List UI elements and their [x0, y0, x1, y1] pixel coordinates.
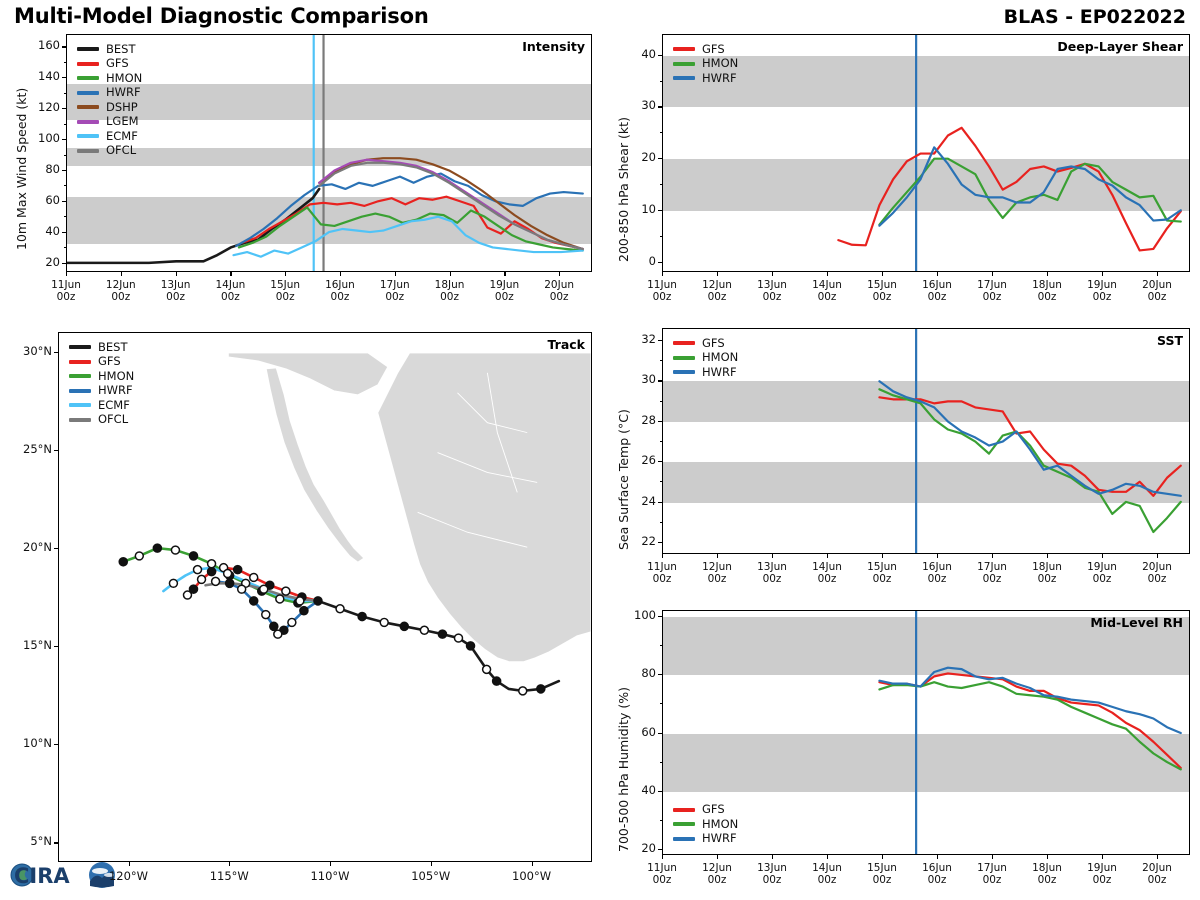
x-tick-day: 13Jun: [757, 561, 787, 573]
x-tick-day: 17Jun: [977, 862, 1007, 874]
y-tick-label: 20: [618, 150, 656, 164]
x-tick-mark: [176, 272, 177, 276]
track-marker-00z: [189, 552, 198, 561]
legend-swatch-ofcl: [77, 149, 99, 153]
y-minor-tick: [660, 481, 663, 482]
x-tick-mark: [882, 554, 883, 558]
x-tick-hour: 00z: [818, 874, 837, 886]
y-tick-label: 80: [22, 162, 60, 176]
track-marker-00z: [400, 622, 409, 631]
y-minor-tick: [64, 124, 67, 125]
x-tick-label: 11Jun00z: [636, 862, 688, 886]
x-tick-day: 12Jun: [702, 279, 732, 291]
x-tick-label: 19Jun00z: [1076, 279, 1128, 303]
x-tick-day: 14Jun: [812, 561, 842, 573]
track-y-tick-mark: [54, 646, 58, 647]
x-tick-day: 11Jun: [51, 279, 81, 291]
legend-entry-hwrf: HWRF: [673, 365, 738, 380]
x-tick-hour: 00z: [1038, 291, 1057, 303]
x-tick-mark: [450, 272, 451, 276]
x-tick-label: 12Jun00z: [691, 561, 743, 585]
track-marker-12z: [183, 591, 191, 599]
legend-label-ofcl: OFCL: [98, 414, 128, 426]
x-tick-hour: 00z: [1038, 573, 1057, 585]
x-tick-day: 20Jun: [544, 279, 574, 291]
x-tick-mark: [937, 272, 938, 276]
x-tick-hour: 00z: [166, 291, 185, 303]
legend-label-hmon: HMON: [106, 73, 142, 85]
x-tick-day: 13Jun: [757, 279, 787, 291]
x-tick-day: 18Jun: [1032, 862, 1062, 874]
track-marker-00z: [300, 606, 309, 615]
legend-entry-gfs: GFS: [673, 803, 738, 818]
legend-swatch-best: [77, 47, 99, 51]
x-tick-day: 14Jun: [215, 279, 245, 291]
x-tick-hour: 00z: [221, 291, 240, 303]
landmass: [378, 353, 591, 662]
legend-swatch-hwrf: [77, 91, 99, 95]
x-tick-label: 13Jun00z: [150, 279, 202, 303]
y-minor-tick: [64, 232, 67, 233]
track-x-tick-mark: [330, 862, 331, 866]
legend-entry-hwrf: HWRF: [673, 71, 738, 86]
track-y-tick-label: 5°N: [6, 834, 52, 848]
x-tick-hour: 00z: [928, 573, 947, 585]
track-x-tick-label: 105°W: [401, 870, 461, 883]
x-tick-hour: 00z: [111, 291, 130, 303]
x-tick-mark: [1102, 272, 1103, 276]
y-minor-tick: [660, 820, 663, 821]
y-minor-tick: [660, 262, 663, 263]
y-minor-tick: [660, 210, 663, 211]
x-tick-hour: 00z: [873, 291, 892, 303]
sst-panel-title: SST: [1157, 333, 1183, 348]
x-tick-label: 19Jun00z: [1076, 561, 1128, 585]
legend-label-dshp: DSHP: [106, 102, 138, 114]
y-minor-tick: [660, 849, 663, 850]
y-tick-label: 40: [618, 47, 656, 61]
legend-entry-gfs: GFS: [77, 57, 142, 72]
y-tick-label: 20: [22, 255, 60, 269]
x-tick-hour: 00z: [708, 291, 727, 303]
track-marker-12z: [274, 630, 282, 638]
x-tick-mark: [992, 272, 993, 276]
shear-y-axis-label: 200-850 hPa Shear (kt): [616, 117, 631, 262]
x-tick-mark: [66, 272, 67, 276]
y-minor-tick: [64, 46, 67, 47]
track-marker-12z: [224, 570, 232, 578]
y-tick-label: 20: [618, 841, 656, 855]
legend-label-hmon: HMON: [702, 819, 738, 831]
legend-label-ecmf: ECMF: [106, 131, 138, 143]
legend-label-hmon: HMON: [98, 371, 134, 383]
y-tick-label: 60: [618, 725, 656, 739]
shear-series-svg: [663, 35, 1189, 272]
legend-swatch-hmon: [673, 356, 695, 360]
series-line-hwrf: [879, 147, 1180, 225]
series-line-hmon: [239, 207, 583, 250]
legend-swatch-gfs: [69, 360, 91, 364]
legend-entry-gfs: GFS: [673, 42, 738, 57]
legend-swatch-lgem: [77, 120, 99, 124]
x-tick-mark: [937, 554, 938, 558]
x-tick-day: 20Jun: [1142, 862, 1172, 874]
x-tick-hour: 00z: [440, 291, 459, 303]
x-tick-mark: [662, 554, 663, 558]
track-x-tick-label: 120°W: [99, 870, 159, 883]
series-line-ofcl: [319, 163, 583, 249]
track-panel-title: Track: [548, 337, 585, 352]
x-tick-hour: 00z: [928, 874, 947, 886]
y-minor-tick: [660, 184, 663, 185]
y-minor-tick: [660, 542, 663, 543]
track-y-tick-label: 15°N: [6, 638, 52, 652]
y-minor-tick: [660, 401, 663, 402]
x-tick-hour: 00z: [1148, 874, 1167, 886]
y-tick-label: 40: [22, 224, 60, 238]
x-tick-mark: [1157, 272, 1158, 276]
y-minor-tick: [660, 703, 663, 704]
legend-entry-hmon: HMON: [673, 57, 738, 72]
x-tick-hour: 00z: [873, 874, 892, 886]
x-tick-mark: [285, 272, 286, 276]
y-tick-label: 32: [618, 332, 656, 346]
diagnostic-dashboard: Multi-Model Diagnostic Comparison BLAS -…: [0, 0, 1200, 900]
rh-plot-area[interactable]: Mid-Level RH GFSHMONHWRF: [662, 610, 1190, 855]
track-marker-12z: [336, 605, 344, 613]
legend-label-gfs: GFS: [702, 44, 725, 56]
landmass: [228, 353, 387, 395]
y-minor-tick: [64, 201, 67, 202]
track-y-tick-mark: [54, 842, 58, 843]
panel-rh: 700-500 hPa Humidity (%) Mid-Level RH GF…: [600, 600, 1200, 900]
y-tick-label: 26: [618, 453, 656, 467]
x-tick-label: 18Jun00z: [1021, 862, 1073, 886]
x-tick-label: 11Jun00z: [636, 279, 688, 303]
y-minor-tick: [660, 340, 663, 341]
x-tick-mark: [662, 855, 663, 859]
y-minor-tick: [64, 216, 67, 217]
x-tick-label: 20Jun00z: [533, 279, 585, 303]
x-tick-mark: [1157, 855, 1158, 859]
x-tick-mark: [882, 855, 883, 859]
x-tick-mark: [772, 554, 773, 558]
x-tick-hour: 00z: [276, 291, 295, 303]
x-tick-day: 18Jun: [1032, 561, 1062, 573]
x-tick-hour: 00z: [653, 291, 672, 303]
track-marker-12z: [238, 585, 246, 593]
x-tick-hour: 00z: [708, 573, 727, 585]
y-minor-tick: [660, 81, 663, 82]
track-x-tick-label: 100°W: [502, 870, 562, 883]
x-tick-label: 16Jun00z: [314, 279, 366, 303]
x-tick-mark: [827, 855, 828, 859]
x-tick-label: 20Jun00z: [1131, 561, 1183, 585]
x-tick-hour: 00z: [873, 573, 892, 585]
legend-label-hwrf: HWRF: [702, 367, 737, 379]
x-tick-day: 12Jun: [702, 561, 732, 573]
series-line-hwrf: [879, 381, 1180, 496]
legend-entry-dshp: DSHP: [77, 100, 142, 115]
x-tick-hour: 00z: [763, 291, 782, 303]
x-tick-hour: 00z: [331, 291, 350, 303]
x-tick-day: 15Jun: [867, 279, 897, 291]
track-x-tick-mark: [532, 862, 533, 866]
x-tick-day: 20Jun: [1142, 279, 1172, 291]
track-marker-12z: [262, 611, 270, 619]
intensity-legend: BESTGFSHMONHWRFDSHPLGEMECMFOFCL: [77, 42, 142, 158]
x-tick-day: 11Jun: [647, 561, 677, 573]
y-tick-label: 140: [22, 69, 60, 83]
track-marker-12z: [282, 587, 290, 595]
sst-legend: GFSHMONHWRF: [673, 336, 738, 380]
x-tick-day: 12Jun: [106, 279, 136, 291]
legend-swatch-hwrf: [673, 76, 695, 80]
x-tick-label: 11Jun00z: [636, 561, 688, 585]
y-minor-tick: [660, 132, 663, 133]
svg-text:CIRA: CIRA: [14, 864, 70, 888]
y-tick-label: 10: [618, 202, 656, 216]
x-tick-label: 20Jun00z: [1131, 279, 1183, 303]
x-tick-label: 19Jun00z: [478, 279, 530, 303]
track-legend: BESTGFSHMONHWRFECMFOFCL: [69, 340, 134, 427]
track-marker-00z: [207, 567, 216, 576]
legend-entry-best: BEST: [77, 42, 142, 57]
series-line-hwrf: [236, 174, 583, 246]
legend-entry-lgem: LGEM: [77, 115, 142, 130]
x-tick-mark: [827, 554, 828, 558]
x-tick-label: 16Jun00z: [911, 561, 963, 585]
track-marker-12z: [276, 595, 284, 603]
track-marker-12z: [194, 566, 202, 574]
x-tick-hour: 00z: [653, 573, 672, 585]
track-marker-00z: [314, 597, 323, 606]
y-tick-label: 30: [618, 372, 656, 386]
track-marker-00z: [270, 622, 279, 631]
intensity-series-svg: [67, 35, 591, 272]
y-minor-tick: [660, 762, 663, 763]
track-y-tick-label: 30°N: [6, 344, 52, 358]
legend-swatch-hmon: [69, 374, 91, 378]
y-minor-tick: [660, 733, 663, 734]
x-tick-mark: [717, 855, 718, 859]
y-tick-label: 160: [22, 38, 60, 52]
x-tick-mark: [827, 272, 828, 276]
x-tick-hour: 00z: [818, 573, 837, 585]
x-tick-mark: [772, 855, 773, 859]
track-marker-12z: [296, 597, 304, 605]
sst-series-svg: [663, 329, 1189, 554]
x-tick-mark: [992, 855, 993, 859]
x-tick-hour: 00z: [57, 291, 76, 303]
track-marker-12z: [198, 575, 206, 583]
track-y-tick-mark: [54, 744, 58, 745]
track-marker-12z: [483, 665, 491, 673]
x-tick-mark: [937, 855, 938, 859]
x-tick-label: 17Jun00z: [966, 561, 1018, 585]
shear-panel-title: Deep-Layer Shear: [1057, 39, 1183, 54]
track-x-tick-mark: [229, 862, 230, 866]
x-tick-mark: [1047, 272, 1048, 276]
shear-plot-area[interactable]: Deep-Layer Shear GFSHMONHWRF: [662, 34, 1190, 272]
track-marker-00z: [225, 579, 234, 588]
x-tick-label: 15Jun00z: [259, 279, 311, 303]
x-tick-hour: 00z: [1093, 291, 1112, 303]
legend-entry-hwrf: HWRF: [673, 832, 738, 847]
series-line-hmon: [879, 389, 1180, 532]
legend-entry-gfs: GFS: [673, 336, 738, 351]
x-tick-mark: [504, 272, 505, 276]
legend-swatch-hwrf: [673, 370, 695, 374]
track-map-svg: [59, 333, 591, 861]
sst-plot-area[interactable]: SST GFSHMONHWRF: [662, 328, 1190, 554]
track-marker-12z: [250, 573, 258, 581]
legend-swatch-hmon: [673, 822, 695, 826]
x-tick-mark: [882, 272, 883, 276]
rh-panel-title: Mid-Level RH: [1090, 615, 1183, 630]
x-tick-day: 19Jun: [1087, 279, 1117, 291]
x-tick-hour: 00z: [1038, 874, 1057, 886]
y-minor-tick: [660, 158, 663, 159]
track-x-tick-mark: [129, 862, 130, 866]
y-minor-tick: [660, 441, 663, 442]
y-tick-label: 24: [618, 494, 656, 508]
track-marker-00z: [153, 544, 162, 553]
track-marker-00z: [119, 558, 128, 567]
x-tick-label: 14Jun00z: [801, 561, 853, 585]
track-marker-00z: [233, 565, 242, 574]
track-marker-12z: [212, 577, 220, 585]
intensity-plot-area[interactable]: Intensity BESTGFSHMONHWRFDSHPLGEMECMFOFC…: [66, 34, 592, 272]
x-tick-day: 11Jun: [647, 862, 677, 874]
legend-label-hwrf: HWRF: [702, 73, 737, 85]
x-tick-mark: [1047, 554, 1048, 558]
track-y-tick-mark: [54, 548, 58, 549]
x-tick-hour: 00z: [928, 291, 947, 303]
legend-swatch-gfs: [673, 808, 695, 812]
x-tick-hour: 00z: [983, 291, 1002, 303]
y-minor-tick: [660, 380, 663, 381]
legend-swatch-hwrf: [69, 389, 91, 393]
x-tick-mark: [230, 272, 231, 276]
x-tick-label: 17Jun00z: [369, 279, 421, 303]
track-y-tick-mark: [54, 352, 58, 353]
y-minor-tick: [64, 108, 67, 109]
x-tick-day: 14Jun: [812, 862, 842, 874]
x-tick-mark: [1157, 554, 1158, 558]
panel-intensity: 10m Max Wind Speed (kt) Intensity BESTGF…: [0, 0, 600, 318]
legend-label-gfs: GFS: [106, 58, 129, 70]
x-tick-mark: [772, 272, 773, 276]
legend-entry-hmon: HMON: [77, 71, 142, 86]
track-marker-12z: [171, 546, 179, 554]
x-tick-hour: 00z: [983, 573, 1002, 585]
x-tick-hour: 00z: [708, 874, 727, 886]
track-marker-00z: [537, 685, 546, 694]
track-marker-00z: [492, 677, 501, 686]
x-tick-day: 20Jun: [1142, 561, 1172, 573]
x-tick-mark: [662, 272, 663, 276]
x-tick-label: 20Jun00z: [1131, 862, 1183, 886]
y-minor-tick: [660, 106, 663, 107]
x-tick-day: 16Jun: [922, 279, 952, 291]
legend-swatch-hmon: [77, 76, 99, 80]
y-tick-label: 100: [22, 131, 60, 145]
x-tick-hour: 00z: [1093, 874, 1112, 886]
legend-swatch-gfs: [673, 341, 695, 345]
x-tick-day: 16Jun: [325, 279, 355, 291]
track-marker-12z: [208, 560, 216, 568]
x-tick-mark: [992, 554, 993, 558]
x-tick-hour: 00z: [818, 291, 837, 303]
x-tick-label: 16Jun00z: [911, 862, 963, 886]
x-tick-label: 19Jun00z: [1076, 862, 1128, 886]
y-tick-label: 30: [618, 98, 656, 112]
legend-label-hmon: HMON: [702, 58, 738, 70]
panel-shear: 200-850 hPa Shear (kt) Deep-Layer Shear …: [600, 0, 1200, 318]
y-minor-tick: [660, 616, 663, 617]
track-marker-12z: [380, 618, 388, 626]
rh-legend: GFSHMONHWRF: [673, 803, 738, 847]
y-minor-tick: [64, 139, 67, 140]
x-tick-day: 12Jun: [702, 862, 732, 874]
x-tick-day: 13Jun: [757, 862, 787, 874]
x-tick-hour: 00z: [1148, 291, 1167, 303]
x-tick-hour: 00z: [983, 874, 1002, 886]
x-tick-label: 16Jun00z: [911, 279, 963, 303]
panel-sst: Sea Surface Temp (°C) SST GFSHMONHWRF 22…: [600, 318, 1200, 600]
legend-swatch-best: [69, 345, 91, 349]
y-tick-label: 28: [618, 413, 656, 427]
y-tick-label: 100: [618, 608, 656, 622]
y-tick-label: 60: [22, 193, 60, 207]
shear-legend: GFSHMONHWRF: [673, 42, 738, 86]
legend-swatch-dshp: [77, 105, 99, 109]
x-tick-label: 17Jun00z: [966, 862, 1018, 886]
track-marker-12z: [169, 579, 177, 587]
y-tick-label: 22: [618, 534, 656, 548]
legend-swatch-ofcl: [69, 418, 91, 422]
track-x-tick-label: 110°W: [300, 870, 360, 883]
x-tick-day: 11Jun: [647, 279, 677, 291]
x-tick-label: 12Jun00z: [691, 862, 743, 886]
x-tick-mark: [1102, 855, 1103, 859]
y-minor-tick: [660, 55, 663, 56]
x-tick-day: 15Jun: [270, 279, 300, 291]
x-tick-label: 15Jun00z: [856, 279, 908, 303]
y-minor-tick: [660, 522, 663, 523]
x-tick-day: 13Jun: [161, 279, 191, 291]
legend-entry-ofcl: OFCL: [77, 144, 142, 159]
x-tick-mark: [1102, 554, 1103, 558]
y-minor-tick: [660, 502, 663, 503]
x-tick-mark: [121, 272, 122, 276]
x-tick-mark: [717, 272, 718, 276]
legend-entry-hmon: HMON: [69, 369, 134, 384]
track-plot-area[interactable]: Track BESTGFSHMONHWRFECMFOFCL: [58, 332, 592, 862]
sst-y-axis-label: Sea Surface Temp (°C): [616, 409, 631, 550]
x-tick-label: 17Jun00z: [966, 279, 1018, 303]
legend-entry-gfs: GFS: [69, 355, 134, 370]
track-marker-12z: [288, 618, 296, 626]
x-tick-hour: 00z: [653, 874, 672, 886]
y-minor-tick: [64, 247, 67, 248]
legend-label-ecmf: ECMF: [98, 400, 130, 412]
x-tick-mark: [559, 272, 560, 276]
legend-entry-hmon: HMON: [673, 817, 738, 832]
track-marker-00z: [438, 630, 447, 639]
y-minor-tick: [64, 155, 67, 156]
